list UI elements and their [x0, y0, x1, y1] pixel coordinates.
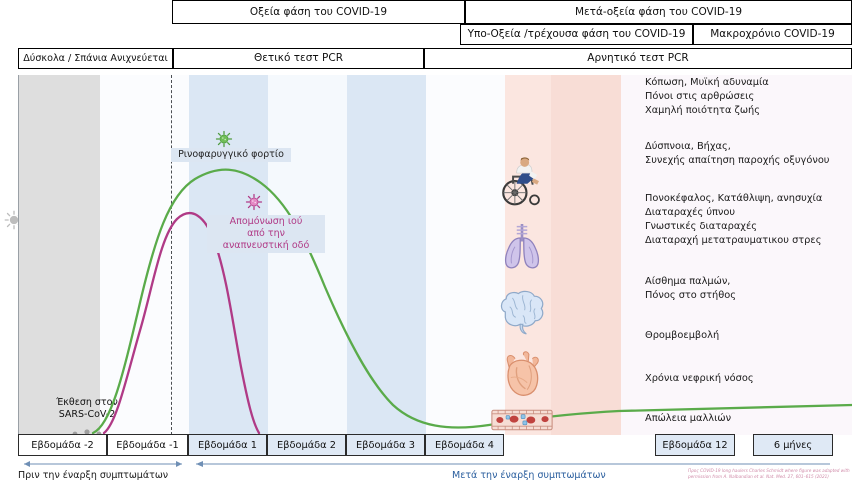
- symptom-group-hair-loss: Απώλεια μαλλιών: [645, 412, 731, 426]
- pcr-box-negative: Αρνητικό τεστ PCR: [424, 48, 852, 69]
- week-tab-label: Εβδομάδα 12: [662, 440, 727, 451]
- lungs-icon: [482, 214, 562, 276]
- phase-box-post-acute: Μετά-οξεία φάση του COVID-19: [465, 0, 852, 24]
- label-after-onset: Μετά την έναρξη συμπτωμάτων: [452, 470, 606, 481]
- week-tab-4[interactable]: Εβδομάδα 4: [425, 434, 504, 456]
- virus-glyph-green-icon: [215, 130, 233, 148]
- week-tab-3[interactable]: Εβδομάδα 3: [346, 434, 425, 456]
- week-tab-label: Εβδομάδα 3: [356, 440, 415, 451]
- pcr-box-positive: Θετικό τεστ PCR: [173, 48, 424, 69]
- phase-box-long-covid: Μακροχρόνιο COVID-19: [693, 24, 852, 45]
- callout-viral-isolation: Απομόνωση ιού από την αναπνευστική οδό: [207, 215, 325, 253]
- week-tab-minus-1[interactable]: Εβδομάδα -1: [107, 434, 188, 456]
- pcr-box-rarely-detected: Δύσκολα / Σπάνια Ανιχνεύεται: [18, 48, 173, 69]
- wheelchair-icon: [482, 154, 562, 210]
- organ-icon-column: [482, 150, 562, 435]
- phase-label-post-acute: Μετά-οξεία φάση του COVID-19: [575, 6, 742, 18]
- symptom-group-cardiac: Αίσθημα παλμών, Πόνος στο στήθος: [645, 275, 736, 303]
- week-tab-1[interactable]: Εβδομάδα 1: [188, 434, 267, 456]
- phase-box-subacute: Υπο-Οξεία /τρέχουσα φάση του COVID-19: [460, 24, 693, 45]
- arrow-before-onset: [18, 459, 188, 469]
- phase-box-acute: Οξεία φάση του COVID-19: [172, 0, 465, 24]
- brain-icon: [482, 282, 562, 342]
- week-tab-label: Εβδομάδα -1: [116, 440, 178, 451]
- virus-glyph-pink-icon: [245, 193, 263, 211]
- citation-line-2: permission from A. Nalbandian et al. Nat…: [688, 474, 860, 480]
- callout-nasopharyngeal-load: Ρινοφαρυγγικό φορτίο: [171, 148, 291, 162]
- covid-timeline-infographic: Οξεία φάση του COVID-19 Μετά-οξεία φάση …: [0, 0, 868, 490]
- blood-vessel-icon: [482, 405, 562, 435]
- pcr-label-negative: Αρνητικό τεστ PCR: [587, 52, 688, 64]
- week-tab-label: Εβδομάδα 1: [198, 440, 257, 451]
- week-tab-2[interactable]: Εβδομάδα 2: [267, 434, 346, 456]
- source-citation: Προς COVID-19 long haulers Charles Schmi…: [688, 468, 860, 480]
- symptom-group-thrombosis: Θρομβοεμβολή: [645, 329, 719, 343]
- symptom-group-renal: Χρόνια νεφρική νόσος: [645, 372, 754, 386]
- week-tab-6-months[interactable]: 6 μήνες: [753, 434, 833, 456]
- symptom-group-neuro: Πονοκέφαλος, Κατάθλιψη, ανησυχία Διαταρα…: [645, 192, 822, 248]
- phase-label-acute: Οξεία φάση του COVID-19: [250, 6, 387, 18]
- pcr-label-rarely-detected: Δύσκολα / Σπάνια Ανιχνεύεται: [23, 53, 168, 64]
- week-tab-label: Εβδομάδα 4: [435, 440, 494, 451]
- week-tab-label: Εβδομάδα -2: [31, 440, 93, 451]
- symptom-group-respiratory: Δύσπνοια, Βήχας, Συνεχής απαίτηση παροχή…: [645, 140, 829, 168]
- label-before-onset: Πριν την έναρξη συμπτωμάτων: [18, 470, 168, 481]
- symptom-group-fatigue: Κόπωση, Μυϊκή αδυναμία Πόνοι στις αρθρώσ…: [645, 76, 769, 118]
- week-tab-12[interactable]: Εβδομάδα 12: [655, 434, 735, 456]
- week-tab-label: Εβδομάδα 2: [277, 440, 336, 451]
- phase-label-long-covid: Μακροχρόνιο COVID-19: [710, 28, 835, 40]
- heart-icon: [482, 346, 562, 404]
- phase-label-subacute: Υπο-Οξεία /τρέχουσα φάση του COVID-19: [468, 28, 686, 40]
- pcr-label-positive: Θετικό τεστ PCR: [254, 52, 343, 64]
- week-tab-label: 6 μήνες: [774, 440, 812, 451]
- week-tab-minus-2[interactable]: Εβδομάδα -2: [18, 434, 107, 456]
